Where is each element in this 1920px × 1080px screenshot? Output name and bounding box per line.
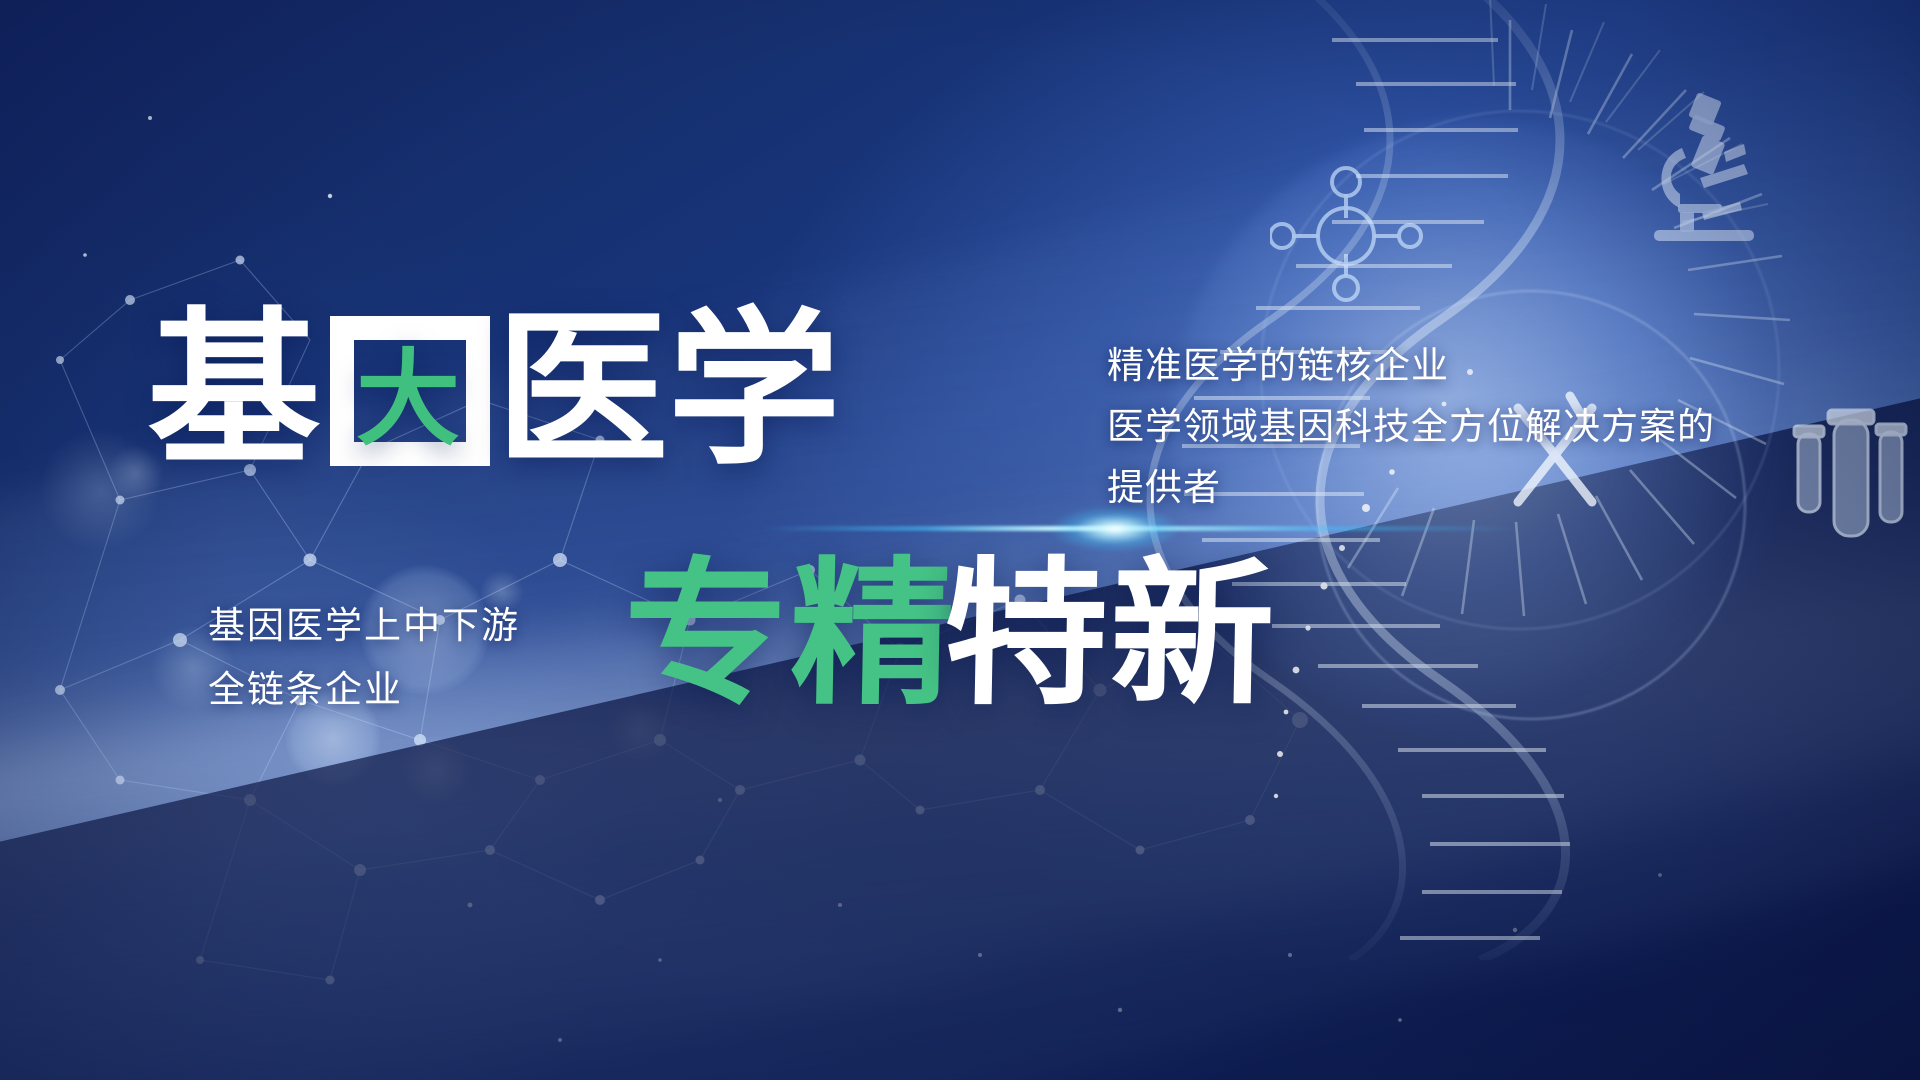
vignette-overlay (0, 0, 1920, 1080)
tagline-line-1: 精准医学的链核企业 (1107, 335, 1715, 396)
page-title-main: 基 大 医 学 (150, 306, 842, 474)
title-char-ji: 基 (147, 306, 324, 474)
test-tubes-icon (1790, 408, 1910, 553)
title-char-yi: 医 (495, 306, 672, 474)
flare-streak (760, 526, 1520, 531)
yin-inner-char: 大 (356, 348, 464, 452)
subtitle-white-part: 特新 (942, 556, 1278, 714)
left-note-line-1: 基因医学上中下游 (208, 594, 520, 658)
tagline-line-3: 提供者 (1107, 457, 1715, 518)
page-title-sub: 专精特新 (630, 556, 1270, 714)
bokeh-circle (40, 430, 160, 550)
subtitle-green-part: 专精 (622, 556, 958, 714)
gene-medicine-banner: 基 大 医 学 专精特新 精准医学的链核企业 医学领域基因科技全方位解决方案的 … (0, 0, 1920, 1080)
tagline-block: 精准医学的链核企业 医学领域基因科技全方位解决方案的 提供者 (1107, 335, 1715, 518)
left-note-line-2: 全链条企业 (208, 658, 520, 722)
title-char-xue: 学 (667, 306, 844, 474)
network-constellation-graphic (0, 0, 1920, 1080)
title-char-yin: 大 (322, 306, 498, 474)
microscope-icon (1640, 92, 1770, 242)
tagline-line-2: 医学领域基因科技全方位解决方案的 (1107, 396, 1715, 457)
bokeh-circle (400, 735, 470, 805)
left-note-block: 基因医学上中下游 全链条企业 (208, 594, 520, 721)
molecule-icon (1270, 160, 1430, 310)
